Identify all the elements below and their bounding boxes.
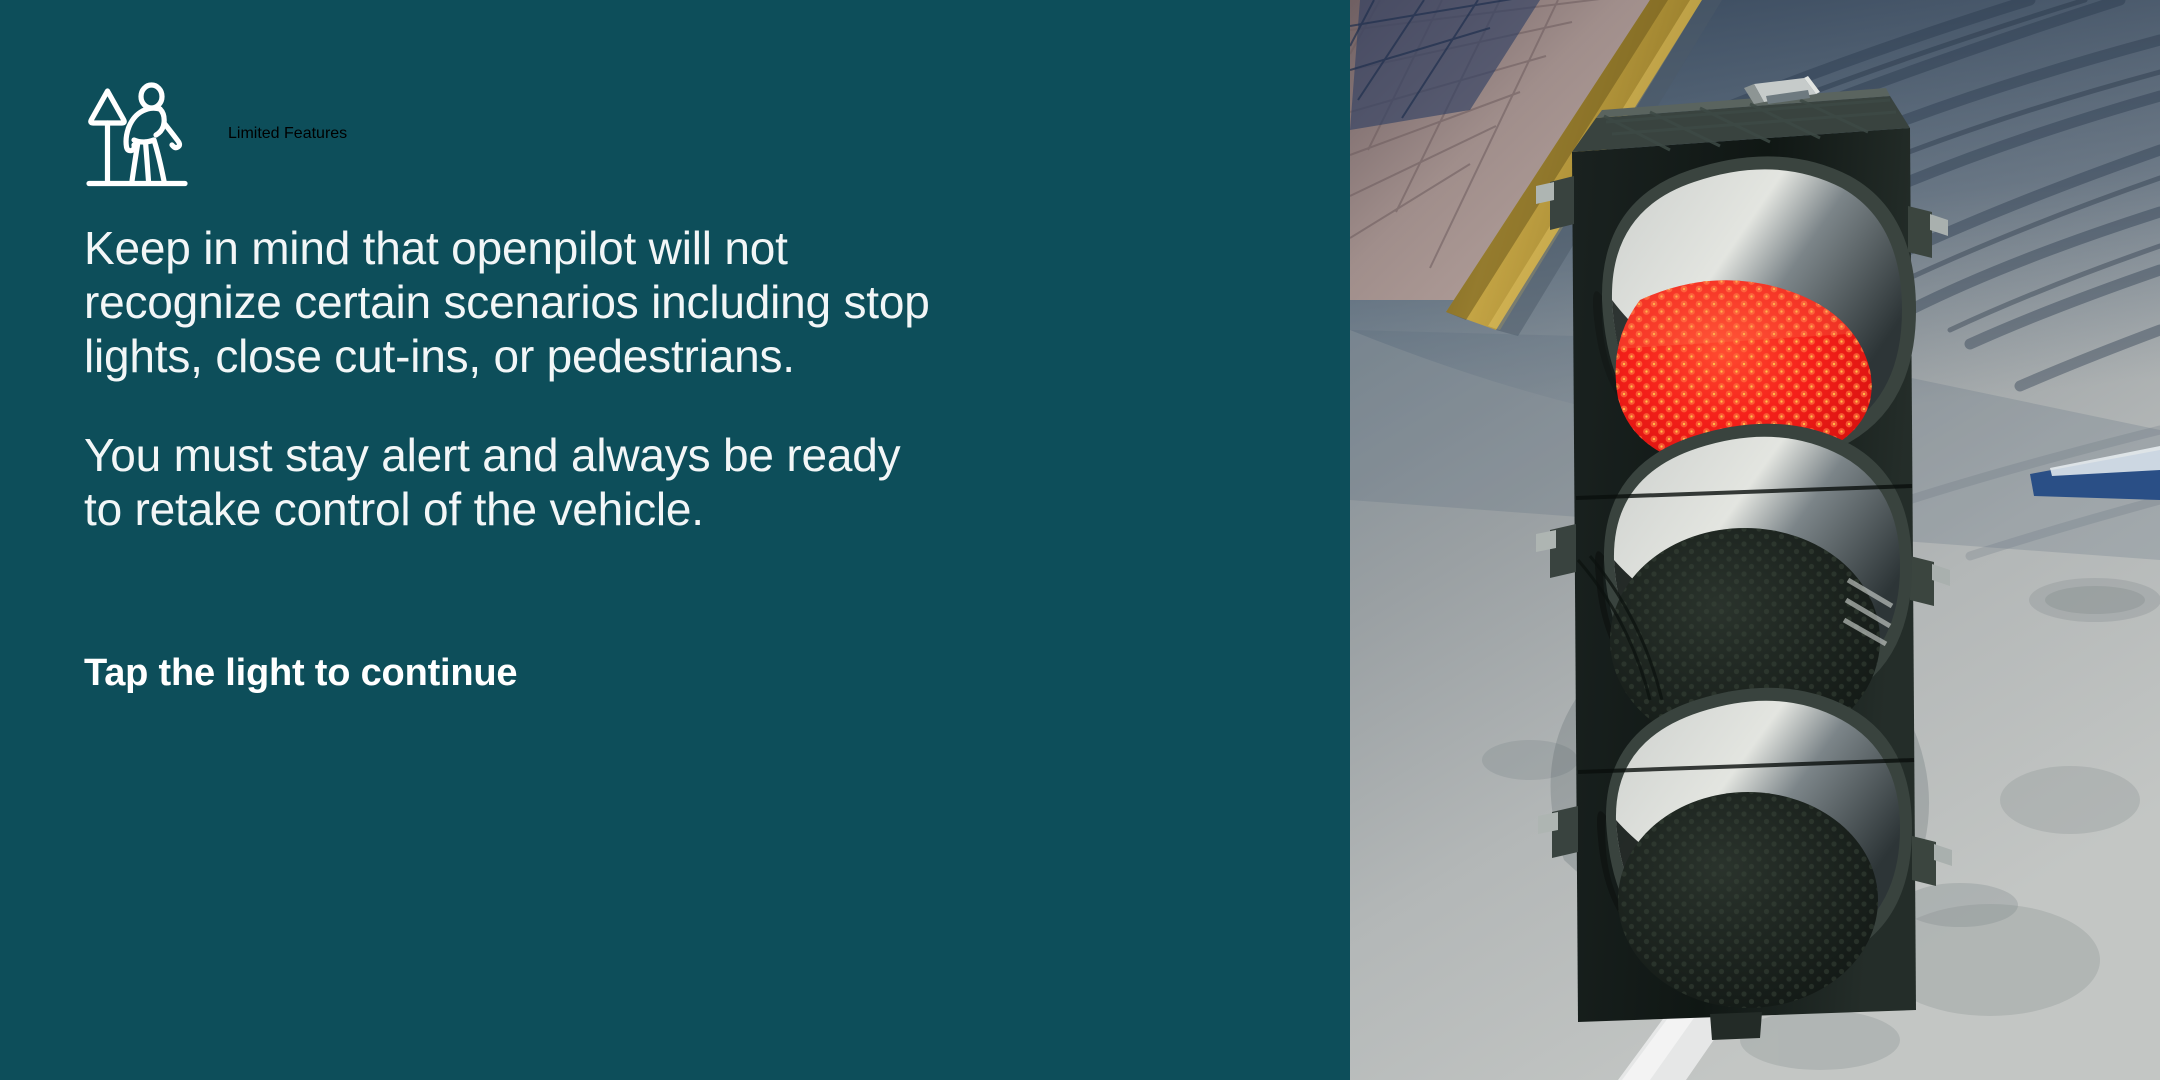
header-row: Limited Features	[85, 78, 347, 190]
pedestrian-crossing-sign-icon	[85, 78, 190, 190]
paragraph-limitations: Keep in mind that openpilot will not rec…	[84, 222, 944, 383]
page-title: Limited Features	[228, 125, 347, 143]
body-copy: Keep in mind that openpilot will not rec…	[84, 222, 944, 537]
traffic-light-photo[interactable]	[1350, 0, 2160, 1080]
onboarding-screen: Limited Features Keep in mind that openp…	[0, 0, 2160, 1080]
paragraph-stay-alert: You must stay alert and always be ready …	[84, 429, 944, 537]
traffic-light-image[interactable]	[1350, 0, 2160, 1080]
info-panel: Limited Features Keep in mind that openp…	[0, 0, 1350, 1080]
tap-to-continue-hint: Tap the light to continue	[84, 652, 517, 695]
